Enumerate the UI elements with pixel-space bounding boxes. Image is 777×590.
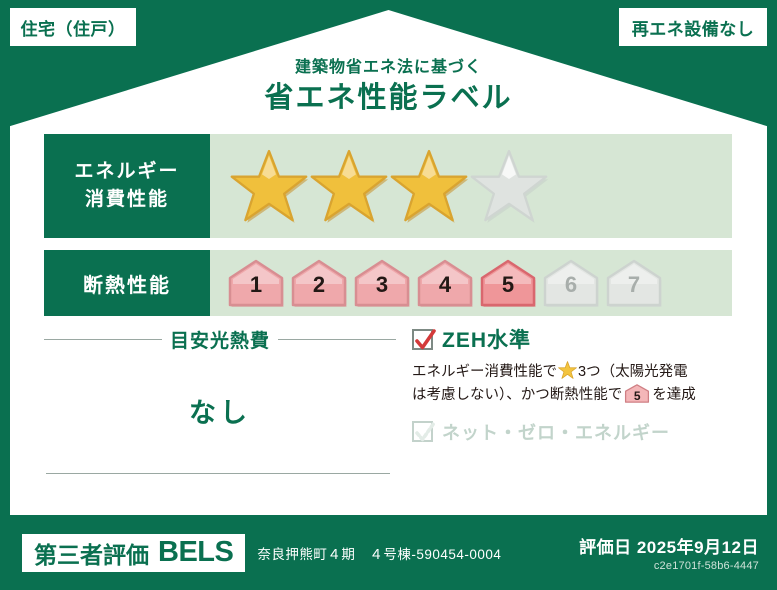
insulation-performance-row: 断熱性能 1234567 — [44, 250, 732, 316]
zeh-description: エネルギー消費性能で3つ（太陽光発電は考慮しない）、かつ断熱性能で5を達成 — [412, 361, 730, 408]
zeh-desc-part2: 3つ（太陽光発電 — [578, 364, 688, 380]
evaluation-date: 評価日 2025年9月12日 — [579, 533, 759, 558]
footer-bar: 第三者評価 BELS 奈良押熊町４期 ４号棟-590454-0004 評価日 2… — [0, 515, 777, 590]
check-icon-faint — [413, 419, 438, 447]
zeh-block: ZEH水準 エネルギー消費性能で3つ（太陽光発電は考慮しない）、かつ断熱性能で5… — [396, 324, 732, 500]
zeh-desc-part1: エネルギー消費性能で — [412, 364, 557, 380]
title-main: 省エネ性能ラベル — [0, 80, 777, 116]
cost-rule-bottom — [46, 473, 390, 474]
utility-cost-value: なし — [44, 391, 396, 430]
energy-performance-label-line1: エネルギー — [74, 158, 179, 186]
insulation-grade-number: 2 — [289, 272, 349, 298]
building-type-tag: 住宅（住戸） — [10, 8, 136, 46]
title-subtitle: 建築物省エネ法に基づく — [0, 58, 777, 77]
evaluation-info: 評価日 2025年9月12日 c2e1701f-58b6-4447 — [579, 533, 759, 572]
energy-performance-label: エネルギー 消費性能 — [44, 134, 210, 238]
cost-rule-right — [278, 339, 396, 340]
net-zero-energy-label: ネット・ゼロ・エネルギー — [442, 419, 670, 445]
insulation-grade-number: 7 — [604, 272, 664, 298]
star-empty-icon — [470, 148, 548, 224]
insulation-grade-number: 3 — [352, 272, 412, 298]
insulation-grade-1: 1 — [226, 258, 286, 308]
bels-logo-en: BELS — [158, 536, 233, 569]
insulation-grade-2: 2 — [289, 258, 349, 308]
utility-cost-heading: 目安光熱費 — [44, 326, 396, 353]
insulation-grade-number: 5 — [478, 272, 538, 298]
page-title: 建築物省エネ法に基づく 省エネ性能ラベル — [0, 58, 777, 116]
check-icon — [413, 327, 438, 355]
zeh-desc-part4: を達成 — [652, 387, 696, 403]
insulation-performance-label-text: 断熱性能 — [83, 269, 171, 298]
energy-performance-label-line2: 消費性能 — [85, 186, 169, 214]
renewable-equipment-tag-label: 再エネ設備なし — [632, 15, 755, 40]
insulation-performance-label: 断熱性能 — [44, 250, 210, 316]
net-zero-energy-row: ネット・ゼロ・エネルギー — [412, 419, 732, 445]
bels-logo: 第三者評価 BELS — [22, 534, 245, 572]
zeh-standard-label: ZEH水準 — [442, 324, 531, 354]
star-filled-icon — [310, 148, 388, 224]
utility-cost-title: 目安光熱費 — [170, 326, 270, 353]
insulation-grade-scale: 1234567 — [210, 258, 664, 308]
insulation-grade-3: 3 — [352, 258, 412, 308]
inline-grade-badge: 5 — [624, 384, 650, 403]
star-filled-icon — [230, 148, 308, 224]
star-filled-icon — [390, 148, 468, 224]
insulation-grade-number: 6 — [541, 272, 601, 298]
insulation-grade-6: 6 — [541, 258, 601, 308]
utility-cost-block: 目安光熱費 なし — [44, 324, 396, 500]
net-zero-checkbox — [412, 421, 433, 442]
inline-grade-number: 5 — [624, 387, 650, 406]
insulation-performance-content: 1234567 — [210, 250, 732, 316]
energy-performance-row: エネルギー 消費性能 — [44, 134, 732, 238]
star-rating — [210, 148, 548, 224]
zeh-standard-row: ZEH水準 — [412, 324, 732, 354]
energy-performance-content — [210, 134, 732, 238]
insulation-grade-number: 1 — [226, 272, 286, 298]
building-type-tag-label: 住宅（住戸） — [21, 15, 126, 40]
inline-star-icon — [558, 361, 577, 379]
zeh-checkbox — [412, 329, 433, 350]
energy-label-card: 住宅（住戸） 再エネ設備なし 建築物省エネ法に基づく 省エネ性能ラベル エネルギ… — [0, 0, 777, 590]
cost-rule-left — [44, 339, 162, 340]
insulation-grade-4: 4 — [415, 258, 475, 308]
property-address: 奈良押熊町４期 ４号棟-590454-0004 — [257, 543, 579, 563]
insulation-grade-number: 4 — [415, 272, 475, 298]
insulation-grade-7: 7 — [604, 258, 664, 308]
bels-logo-jp: 第三者評価 — [34, 536, 149, 570]
insulation-grade-5: 5 — [478, 258, 538, 308]
zeh-desc-part3: は考慮しない）、かつ断熱性能で — [412, 387, 622, 403]
evaluation-id: c2e1701f-58b6-4447 — [579, 560, 759, 572]
renewable-equipment-tag: 再エネ設備なし — [619, 8, 767, 46]
lower-section: 目安光熱費 なし ZEH水準 エネルギー消費性能で3つ（太陽光発電は考慮しない）… — [44, 324, 732, 500]
